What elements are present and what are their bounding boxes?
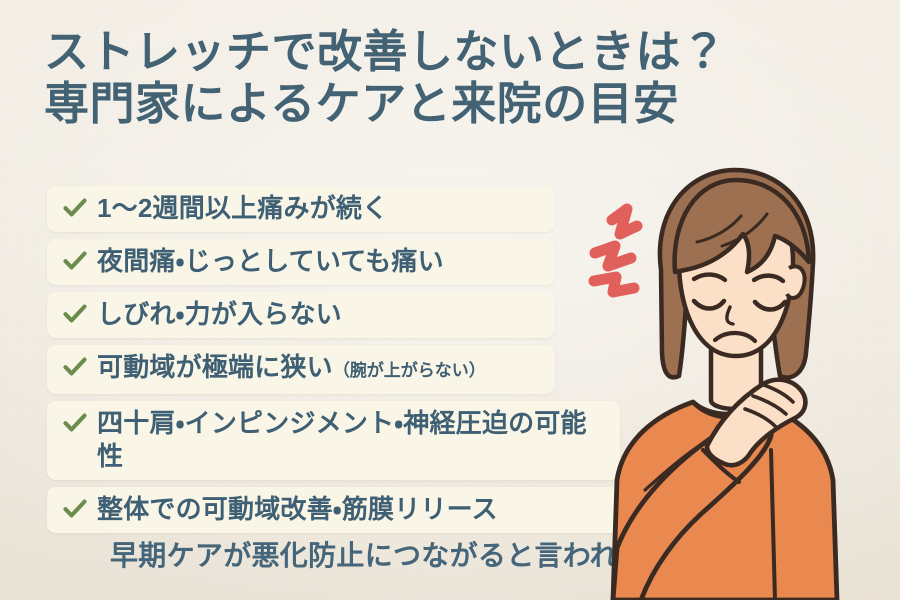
list-item-label: 整体での可動域改善・筋膜リリース: [97, 493, 606, 526]
list-item-label: 可動域が極端に狭い（腕が上がらない）: [97, 351, 541, 387]
list-item: 可動域が極端に狭い（腕が上がらない）: [47, 345, 555, 394]
woman-shoulder-pain-illustration: [575, 150, 900, 600]
list-item: 四十肩・インピンジメント・神経圧迫の可能性: [47, 401, 620, 480]
check-icon: [62, 496, 88, 522]
list-item: 夜間痛・じっとしていても痛い: [47, 239, 555, 285]
pain-marks-icon: [594, 209, 637, 292]
list-item-label: 四十肩・インピンジメント・神経圧迫の可能性: [97, 407, 606, 473]
list-item-label: しびれ・力が入らない: [97, 298, 541, 331]
list-item: 1〜2週間以上痛みが続く: [47, 186, 555, 232]
list-item-label: 1〜2週間以上痛みが続く: [97, 192, 541, 225]
list-item: 整体での可動域改善・筋膜リリース: [47, 487, 620, 533]
check-icon: [62, 195, 88, 221]
title-line-2: 専門家によるケアと来院の目安: [44, 78, 824, 130]
title-line-1: ストレッチで改善しないときは？: [44, 26, 824, 78]
checklist: 1〜2週間以上痛みが続く 夜間痛・じっとしていても痛い しびれ・力が入らない 可…: [47, 186, 647, 540]
list-item: しびれ・力が入らない: [47, 292, 555, 338]
ear: [787, 266, 805, 298]
check-icon: [62, 301, 88, 327]
check-icon: [62, 410, 88, 436]
check-icon: [62, 354, 88, 380]
list-item-label: 夜間痛・じっとしていても痛い: [97, 245, 541, 278]
check-icon: [62, 248, 88, 274]
list-item-note: （腕が上がらない）: [333, 361, 486, 380]
list-item-main-text: 可動域が極端に狭い: [97, 352, 333, 382]
page-title: ストレッチで改善しないときは？ 専門家によるケアと来院の目安: [44, 26, 824, 130]
